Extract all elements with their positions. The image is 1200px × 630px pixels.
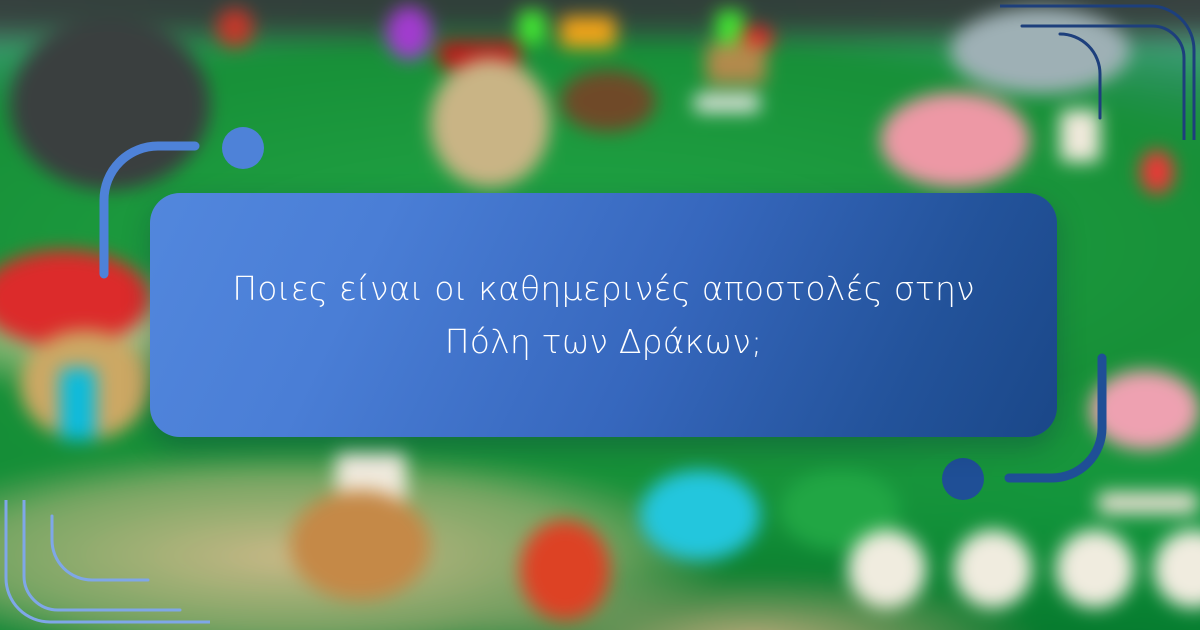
tower-prop [430, 58, 550, 188]
help-button [1056, 530, 1134, 608]
pond-prop [640, 470, 760, 560]
dino-prop [560, 70, 656, 132]
fire-button [848, 530, 926, 608]
info-plate [1098, 492, 1198, 514]
corner-lines-icon [0, 500, 210, 630]
corner-lines-icon [1000, 0, 1200, 140]
banner-prop [60, 368, 96, 440]
house-prop [290, 490, 430, 600]
green-chip-a [518, 10, 546, 44]
corner-lines-bottom-left [0, 500, 210, 630]
accent-dot-bottom-right [942, 458, 984, 500]
social-card-canvas: Ποιες είναι οι καθημερινές αποστολές στη… [0, 0, 1200, 630]
lava-prop [520, 520, 610, 620]
purple-egg-prop [386, 6, 432, 60]
gold-bar-prop [560, 16, 616, 48]
crate-prop [706, 44, 766, 84]
question-card: Ποιες είναι οι καθημερινές αποστολές στη… [150, 193, 1057, 437]
question-text: Ποιες είναι οι καθημερινές αποστολές στη… [224, 262, 984, 369]
coin-button [1154, 530, 1200, 608]
shirt-button [954, 530, 1032, 608]
label-plate [694, 94, 760, 112]
balloon-prop [1140, 150, 1174, 194]
corner-lines-top-right [1000, 0, 1200, 140]
accent-dot-top-left [222, 127, 264, 169]
gem-prop [216, 8, 254, 48]
